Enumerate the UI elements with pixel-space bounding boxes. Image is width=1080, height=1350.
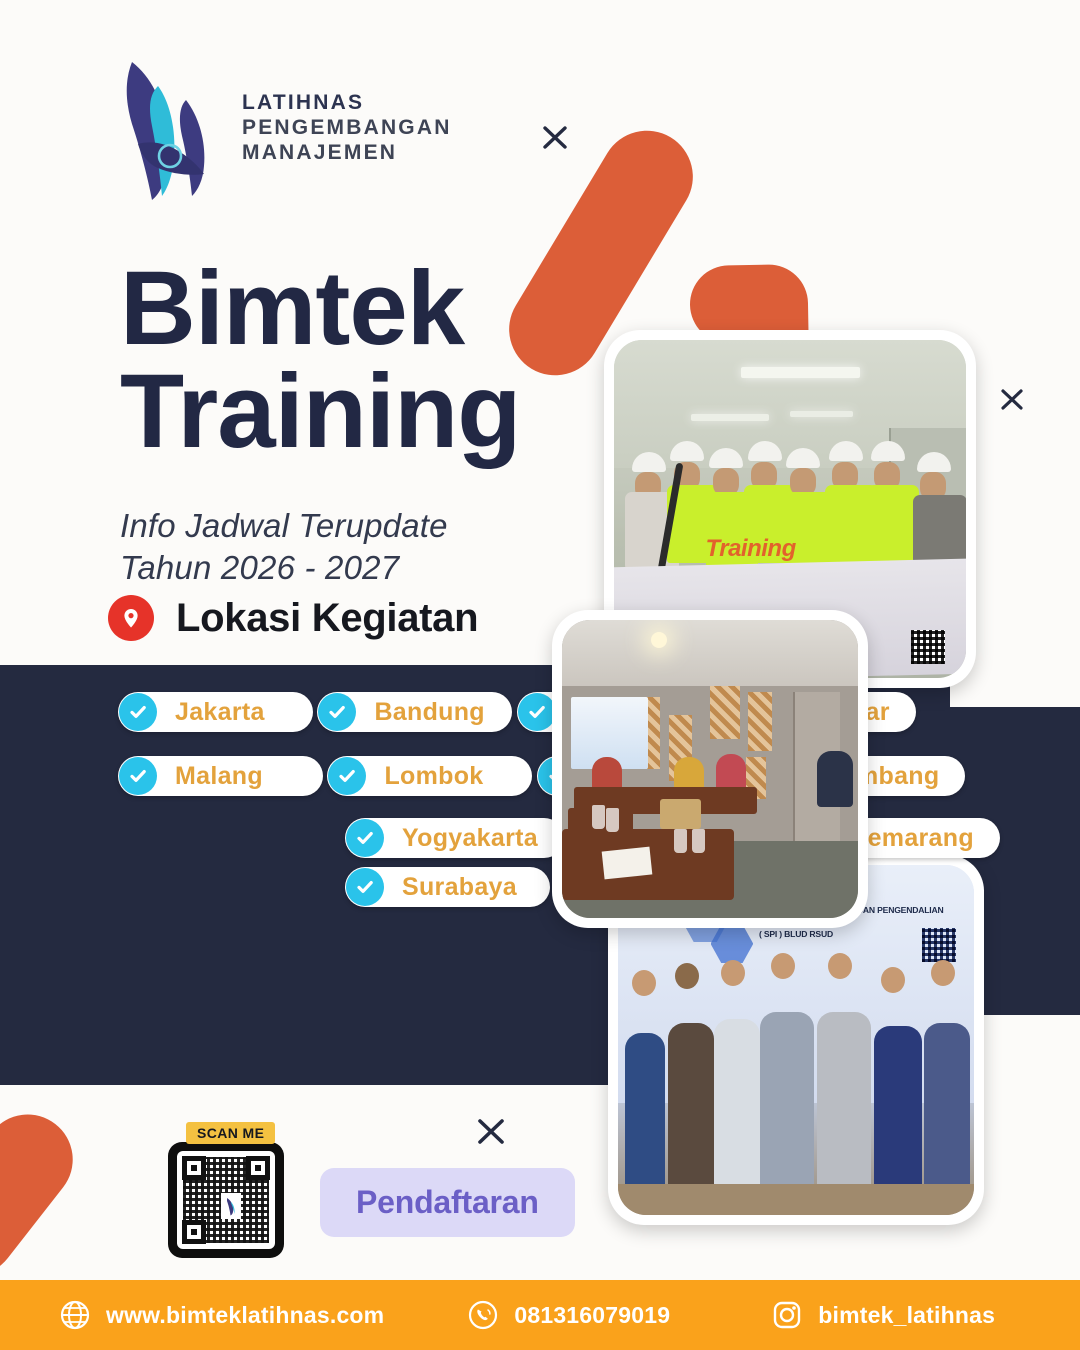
footer-phone-text: 081316079019 xyxy=(514,1302,670,1329)
qr-code-icon[interactable] xyxy=(168,1142,284,1258)
check-circle-icon xyxy=(346,868,384,906)
brand-name-line-2: PENGEMBANGAN xyxy=(242,116,452,140)
footer-contact-bar: www.bimteklatihnas.com 081316079019 bimt… xyxy=(0,1280,1080,1350)
city-pill-bandung[interactable]: Bandung xyxy=(317,692,512,732)
title-line-2: Training xyxy=(120,361,520,464)
check-circle-icon xyxy=(328,757,366,795)
city-pill-surabaya[interactable]: Surabaya xyxy=(345,867,550,907)
check-circle-icon xyxy=(518,693,556,731)
check-circle-icon xyxy=(119,693,157,731)
brand-logo: LATIHNAS PENGEMBANGAN MANAJEMEN xyxy=(118,48,452,208)
city-pill-jakarta[interactable]: Jakarta xyxy=(118,692,313,732)
city-pill-malang[interactable]: Malang xyxy=(118,756,323,796)
city-label: Malang xyxy=(175,762,263,791)
subtitle-line-2: Tahun 2026 - 2027 xyxy=(120,547,448,589)
photo-card-seminar-room xyxy=(552,610,868,928)
title-line-1: Bimtek xyxy=(120,258,520,361)
page-title: Bimtek Training xyxy=(120,258,520,464)
latihnas-feather-logo-icon xyxy=(118,48,226,208)
footer-instagram-text: bimtek_latihnas xyxy=(818,1302,995,1329)
city-label: Semarang xyxy=(851,824,974,853)
check-circle-icon xyxy=(318,693,356,731)
orange-capsule-shape-bottom xyxy=(0,1096,91,1293)
registration-qr-block[interactable]: SCAN ME xyxy=(168,1142,284,1258)
page-subtitle: Info Jadwal Terupdate Tahun 2026 - 2027 xyxy=(120,505,448,589)
x-mark-icon xyxy=(474,1114,508,1148)
location-heading-label: Lokasi Kegiatan xyxy=(176,596,478,641)
check-circle-icon xyxy=(119,757,157,795)
city-label: Yogyakarta xyxy=(402,824,538,853)
city-label: Surabaya xyxy=(402,873,517,902)
instagram-icon xyxy=(770,1298,804,1332)
footer-website-text: www.bimteklatihnas.com xyxy=(106,1302,384,1329)
map-pin-icon xyxy=(108,595,154,641)
location-heading-row: Lokasi Kegiatan xyxy=(108,595,478,641)
x-mark-icon xyxy=(998,385,1026,413)
city-label: Bandung xyxy=(374,698,484,727)
subtitle-line-1: Info Jadwal Terupdate xyxy=(120,505,448,547)
city-label: Jakarta xyxy=(175,698,265,727)
brand-name-line-3: MANAJEMEN xyxy=(242,141,452,165)
check-circle-icon xyxy=(346,819,384,857)
city-pill-yogyakarta[interactable]: Yogyakarta xyxy=(345,818,564,858)
globe-icon xyxy=(58,1298,92,1332)
footer-instagram-item[interactable]: bimtek_latihnas xyxy=(770,1298,995,1332)
city-pill-lombok[interactable]: Lombok xyxy=(327,756,532,796)
footer-phone-item[interactable]: 081316079019 xyxy=(466,1298,670,1332)
pendaftaran-button[interactable]: Pendaftaran xyxy=(320,1168,575,1237)
phone-icon xyxy=(466,1298,500,1332)
footer-website-item[interactable]: www.bimteklatihnas.com xyxy=(58,1298,384,1332)
brand-name-line-1: LATIHNAS xyxy=(242,91,452,115)
city-label: Lombok xyxy=(384,762,483,791)
x-mark-icon xyxy=(540,122,570,152)
scan-me-label: SCAN ME xyxy=(186,1122,275,1144)
